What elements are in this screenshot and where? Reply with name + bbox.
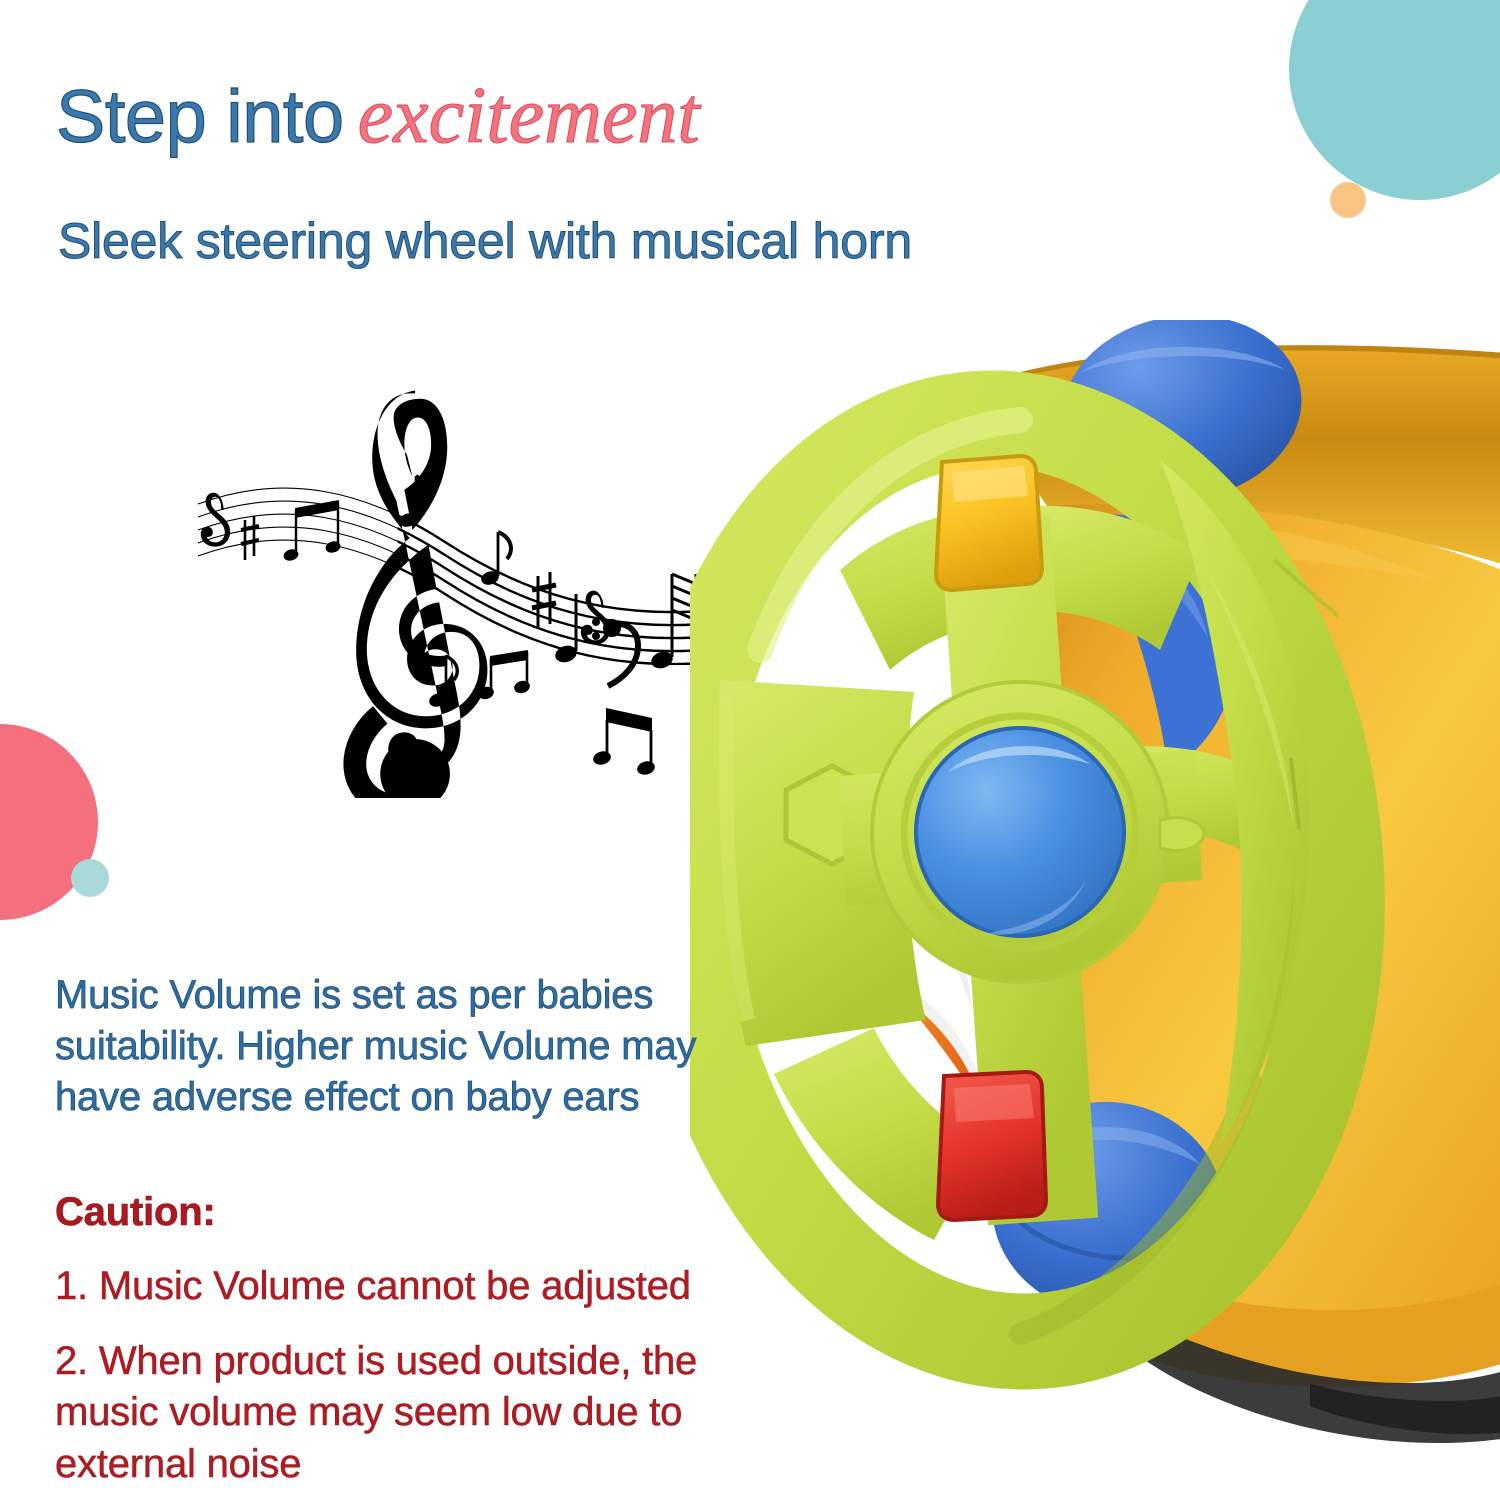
bass-clef-icon bbox=[592, 618, 638, 686]
teal-small-circle-decoration bbox=[71, 859, 109, 897]
volume-note-text: Music Volume is set as per babies suitab… bbox=[55, 970, 735, 1124]
thirty-second-note-right bbox=[649, 574, 696, 671]
quarter-note-right bbox=[553, 594, 579, 665]
headline-accent-text: excitement bbox=[358, 72, 700, 160]
headline: Step intoexcitement bbox=[56, 76, 700, 156]
eighth-note-right-of-clef bbox=[479, 532, 510, 587]
teal-large-circle-decoration bbox=[1289, 0, 1500, 200]
headline-lead-text: Step into bbox=[56, 75, 344, 158]
caution-item-1: 1. Music Volume cannot be adjusted bbox=[55, 1261, 735, 1312]
orange-small-circle-decoration bbox=[1330, 182, 1366, 218]
subheadline: Sleek steering wheel with musical horn bbox=[58, 212, 912, 270]
sharp-sign-icon bbox=[241, 516, 259, 560]
small-treble-clef-icon bbox=[201, 493, 230, 547]
product-feature-image: Step intoexcitement Sleek steering wheel… bbox=[0, 0, 1500, 1500]
volume-note-block: Music Volume is set as per babies suitab… bbox=[55, 970, 735, 1124]
product-photo-steering-wheel bbox=[690, 320, 1500, 1500]
caution-item-2: 2. When product is used outside, the mus… bbox=[55, 1336, 735, 1490]
caution-heading: Caution: bbox=[55, 1190, 735, 1235]
musical-staff-icon bbox=[190, 378, 720, 798]
caution-block: Caution: 1. Music Volume cannot be adjus… bbox=[55, 1190, 735, 1490]
beamed-eighth-notes-left bbox=[282, 500, 341, 562]
beamed-eighth-notes-bottom bbox=[592, 708, 657, 777]
